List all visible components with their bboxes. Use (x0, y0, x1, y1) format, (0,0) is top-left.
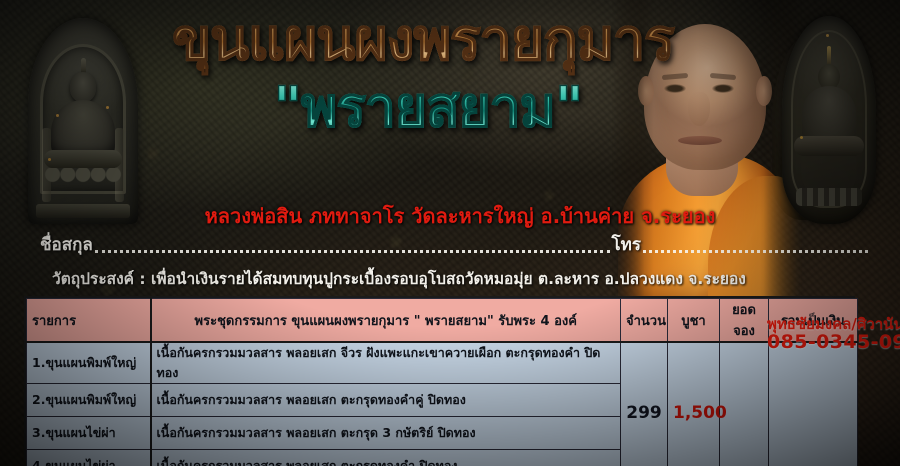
table-header-row: รายการ พระชุดกรรมการ ขุนแผนผงพรายกุมาร "… (27, 299, 858, 343)
phone-field-input[interactable] (643, 250, 868, 253)
name-field-input[interactable] (95, 250, 610, 253)
cell-quantity: 299 (621, 342, 668, 466)
khun-phaen-plaque (28, 18, 138, 224)
purpose-text: เพื่อนำเงินรายได้สมทบทุนปูกระเบื้องรอบอุ… (151, 270, 746, 288)
oval-gold-fleck (826, 34, 829, 37)
plaque-gold-fleck (106, 106, 109, 109)
price-value: 1,500 (673, 403, 727, 423)
th-description: พระชุดกรรมการ ขุนแผนผงพรายกุมาร " พรายสย… (151, 299, 621, 343)
poster-title-main: ขุนแผนผงพรายกุมาร (138, 12, 708, 69)
th-booked: ยอดจอง (720, 299, 769, 343)
buddha-flame-finial (827, 46, 831, 66)
table-row: 1.ขุนแผนพิมพ์ใหญ่ เนื้อกันครกรวมมวลสาร พ… (27, 342, 858, 384)
oval-gold-fleck (800, 136, 803, 139)
th-quantity: จำนวน (621, 299, 668, 343)
oval-buddha-torso (802, 86, 856, 142)
quantity-value: 299 (626, 403, 662, 423)
oval-buddha-knees (794, 136, 864, 156)
plaque-gold-fleck (56, 114, 59, 117)
buddha-lap (44, 150, 122, 168)
row-item-name: 3.ขุนแผนไข่ผ่า (27, 417, 151, 450)
cell-total[interactable]: พุทธชัยมงคล/ศิวานันท์ 085-0345-090 (769, 342, 858, 466)
order-form-row: ชื่อสกุล โทร (40, 234, 870, 258)
name-field-label: ชื่อสกุล (40, 231, 93, 258)
amulet-poster: ขุนแผนผงพรายกุมาร "พรายสยาม" หลวงพ่อสิน … (0, 0, 900, 466)
row-item-desc: เนื้อกันครกรวมมวลสาร พลอยเสก ตะกรุด 3 กษ… (151, 417, 621, 450)
purpose-label: วัตถุประสงค์ : (52, 270, 146, 288)
row-item-desc: เนื้อกันครกรวมมวลสาร พลอยเสก ตะกรุดทองคำ… (151, 450, 621, 466)
th-total: รวมเป็นเงิน (769, 299, 858, 343)
buddha-lotus-base (43, 168, 123, 184)
plaque-gold-fleck (48, 158, 51, 161)
buddha-head (70, 72, 96, 102)
row-item-name: 2.ขุนแผนพิมพ์ใหญ่ (27, 384, 151, 417)
row-item-name: 4.ขุนแผนไข่ผ่า (27, 450, 151, 466)
phone-field-label: โทร (612, 231, 641, 258)
oval-amulet (782, 16, 876, 224)
poster-title-subtitle: "พรายสยาม" (178, 80, 678, 135)
order-table: รายการ พระชุดกรรมการ ขุนแผนผงพรายกุมาร "… (24, 296, 855, 460)
row-item-desc: เนื้อกันครกรวมมวลสาร พลอยเสก ตะกรุดทองคำ… (151, 384, 621, 417)
row-item-name: 1.ขุนแผนพิมพ์ใหญ่ (27, 342, 151, 384)
row-item-desc: เนื้อกันครกรวมมวลสาร พลอยเสก จีวร ฝังแพะ… (151, 342, 621, 384)
monk-name-line: หลวงพ่อสิน ภททาจาโร วัดละหารใหญ่ อ.บ้านค… (60, 200, 860, 232)
cell-price: 1,500 (668, 342, 720, 466)
th-price: บูชา (668, 299, 720, 343)
th-item: รายการ (27, 299, 151, 343)
purpose-line: วัตถุประสงค์ : เพื่อนำเงินรายได้สมทบทุนป… (52, 266, 872, 291)
